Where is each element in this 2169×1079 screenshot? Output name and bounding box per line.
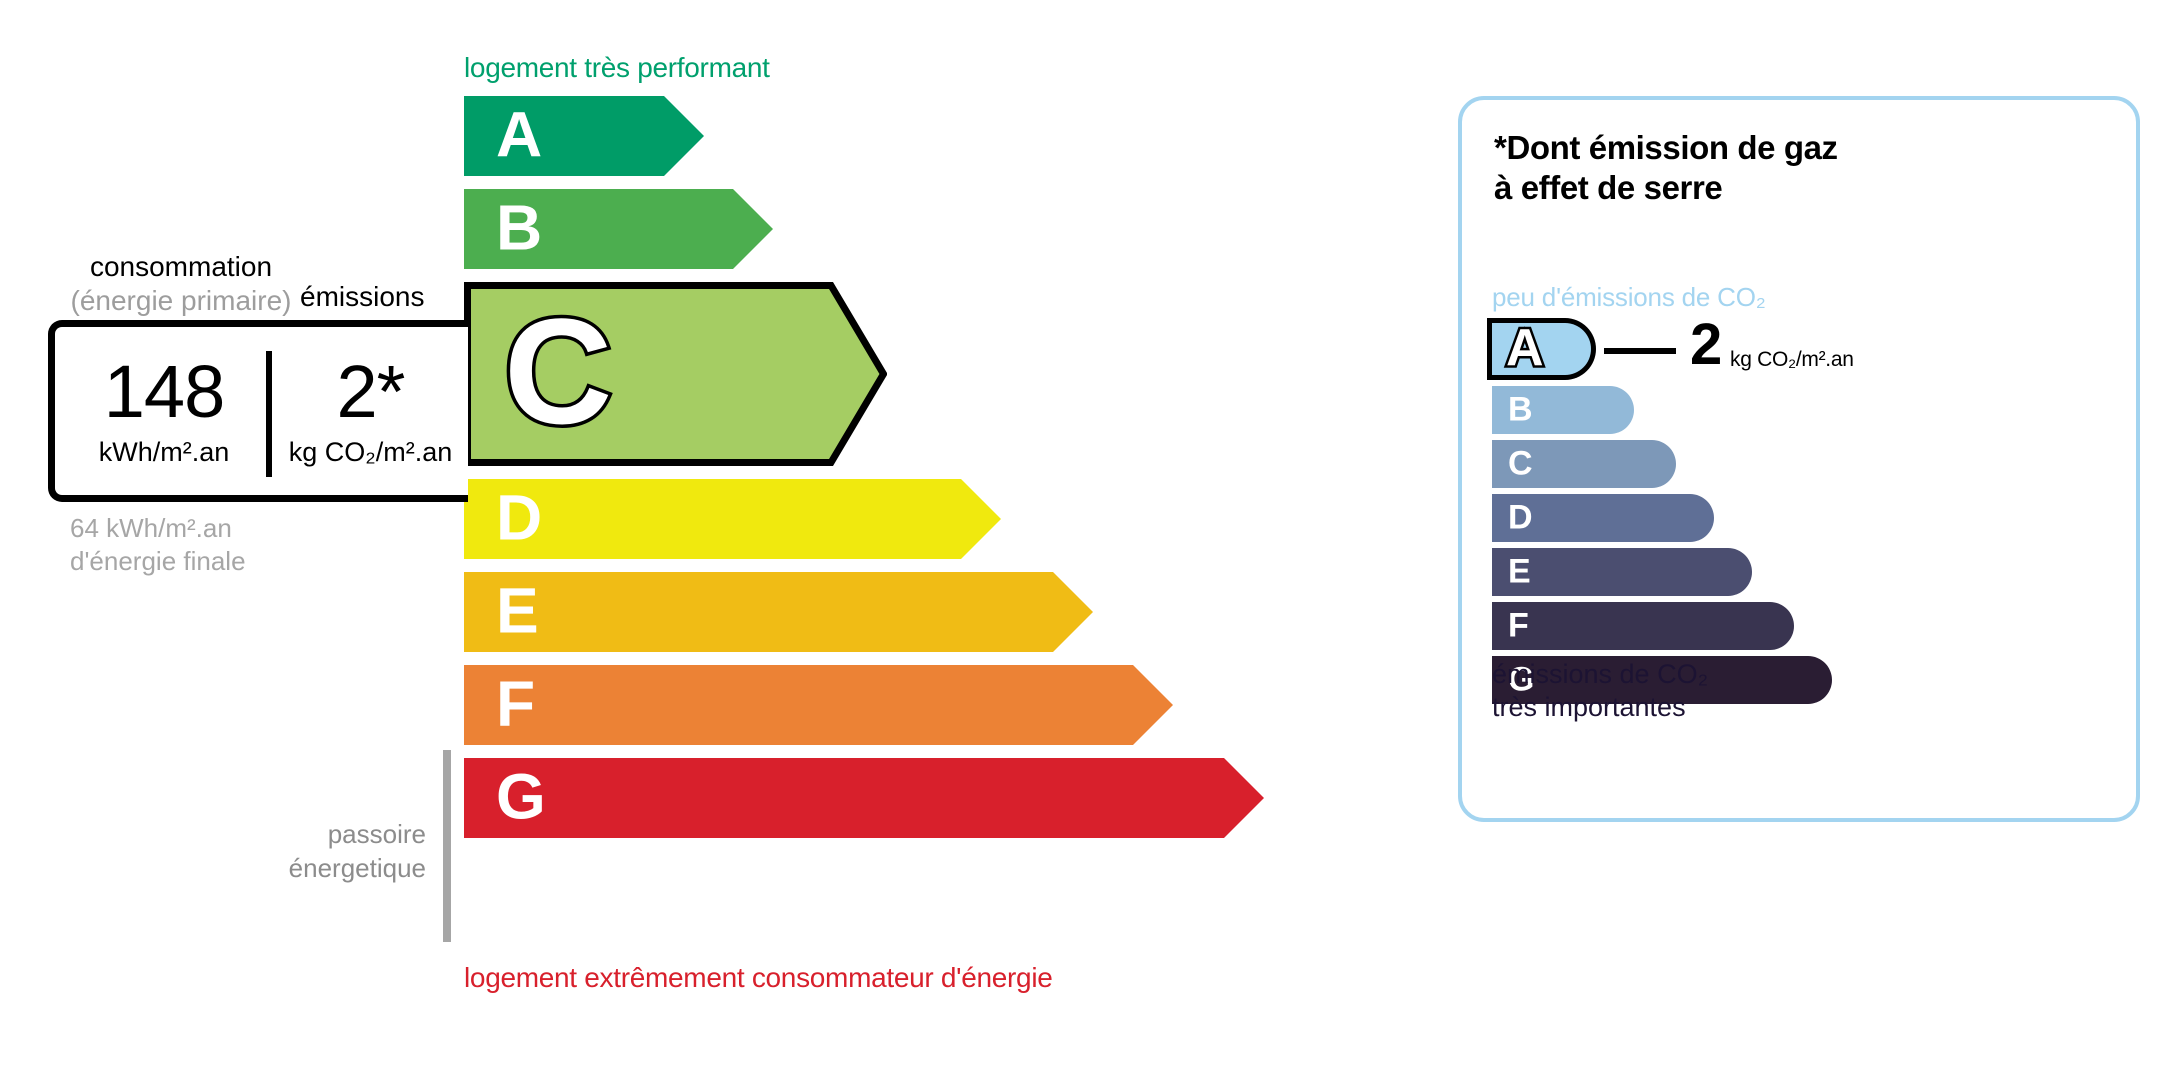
ges-value-unit: kg CO₂/m².an xyxy=(1730,348,1854,372)
emissions-unit: kg CO₂/m².an xyxy=(289,437,453,468)
ges-top-note: peu d'émissions de CO₂ xyxy=(1492,282,1766,313)
ges-row-letter: F xyxy=(1508,608,1529,642)
ges-bottom-note: émissions de CO₂ très importantes xyxy=(1492,658,1708,724)
passoire-label: passoireénergetique xyxy=(230,818,426,886)
consumption-label-sub: (énergie primaire) xyxy=(66,284,296,318)
ges-row-letter: E xyxy=(1508,554,1531,588)
consumption-value: 148 xyxy=(104,355,224,429)
emissions-value: 2* xyxy=(337,355,405,429)
ges-connector-line xyxy=(1604,348,1676,354)
ges-row-letter: A xyxy=(1506,322,1544,374)
ges-bar-f xyxy=(1492,602,1794,650)
ges-row-letter: D xyxy=(1508,500,1533,534)
passoire-label-line: énergetique xyxy=(230,852,426,886)
scale-bottom-note: logement extrêmement consommateur d'éner… xyxy=(464,962,1053,994)
ges-title: *Dont émission de gaz à effet de serre xyxy=(1494,128,1838,209)
energy-row-d: D xyxy=(464,479,1264,559)
ges-row-letter: B xyxy=(1508,392,1533,426)
consumption-unit: kWh/m².an xyxy=(99,437,230,468)
dpe-energy-panel: logement très performant ABCDEFG consomm… xyxy=(0,0,1400,1079)
energy-row-e: E xyxy=(464,572,1264,652)
final-energy-caption: d'énergie finale xyxy=(70,545,246,578)
value-box-divider xyxy=(266,351,272,477)
ges-value: 2 xyxy=(1690,316,1721,374)
energy-arrow-g xyxy=(464,758,1264,838)
ges-row-f: F xyxy=(1492,602,2112,650)
final-energy-value: 64 kWh/m².an xyxy=(70,512,246,545)
passoire-label-line: passoire xyxy=(230,818,426,852)
ges-bottom-note-line2: très importantes xyxy=(1492,691,1708,724)
scale-top-note: logement très performant xyxy=(464,52,770,84)
ges-row-c: C xyxy=(1492,440,2112,488)
consumption-cell: 148 kWh/m².an xyxy=(55,327,273,495)
energy-arrow-f xyxy=(464,665,1173,745)
ges-row-b: B xyxy=(1492,386,2112,434)
energy-arrow-b xyxy=(464,189,773,269)
final-energy-note: 64 kWh/m².an d'énergie finale xyxy=(70,512,246,579)
ges-bar-e xyxy=(1492,548,1752,596)
energy-row-f: F xyxy=(464,665,1264,745)
energy-arrow-d xyxy=(464,479,1001,559)
energy-row-c: C xyxy=(464,282,1264,466)
emissions-label: émissions xyxy=(300,281,424,313)
ges-row-e: E xyxy=(1492,548,2112,596)
energy-row-g: G xyxy=(464,758,1264,838)
ges-title-line1: *Dont émission de gaz xyxy=(1494,128,1838,168)
ges-bottom-note-line1: émissions de CO₂ xyxy=(1492,658,1708,691)
ges-row-letter: C xyxy=(1508,446,1533,480)
energy-arrow-c xyxy=(464,282,887,466)
emissions-cell: 2* kg CO₂/m².an xyxy=(273,327,468,495)
consumption-label-main: consommation xyxy=(90,251,272,282)
energy-scale-rows: ABCDEFG xyxy=(464,96,1264,851)
energy-row-a: A xyxy=(464,96,1264,176)
energy-arrow-a xyxy=(464,96,704,176)
ges-row-d: D xyxy=(1492,494,2112,542)
energy-row-b: B xyxy=(464,189,1264,269)
consumption-label: consommation (énergie primaire) xyxy=(66,250,296,318)
passoire-bracket xyxy=(443,750,451,942)
ges-card: *Dont émission de gaz à effet de serre p… xyxy=(1458,96,2140,822)
ges-title-line2: à effet de serre xyxy=(1494,168,1838,208)
value-box: 148 kWh/m².an 2* kg CO₂/m².an xyxy=(48,320,468,502)
energy-arrow-e xyxy=(464,572,1093,652)
ges-scale-rows: ABCDEFG xyxy=(1492,318,2112,710)
